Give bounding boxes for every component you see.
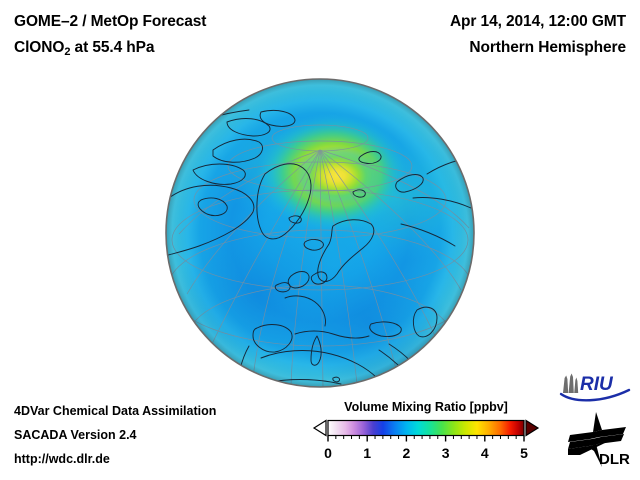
colorbar-ticks xyxy=(328,436,524,442)
region-label: Northern Hemisphere xyxy=(469,39,626,57)
visualization-canvas: GOME–2 / MetOp Forecast ClONO2 at 55.4 h… xyxy=(0,0,640,480)
colorbar-bar xyxy=(328,421,524,436)
colorbar-over-arrow xyxy=(526,421,538,436)
colorbar: Volume Mixing Ratio [ppbv] 012345 xyxy=(312,400,540,465)
colorbar-tick-labels: 012345 xyxy=(312,445,540,465)
globe-limb-shading xyxy=(166,79,474,387)
colorbar-tick-label: 4 xyxy=(481,445,489,461)
page-title-species: ClONO2 at 55.4 hPa xyxy=(14,39,154,57)
riu-logo: RIU xyxy=(558,371,632,405)
colorbar-tick-label: 3 xyxy=(442,445,450,461)
colorbar-tick-label: 1 xyxy=(363,445,371,461)
colorbar-tick-label: 0 xyxy=(324,445,332,461)
colorbar-tick-label: 5 xyxy=(520,445,528,461)
colorbar-under-arrow xyxy=(314,421,326,436)
timestamp-label: Apr 14, 2014, 12:00 GMT xyxy=(450,13,626,31)
species-name: ClONO xyxy=(14,39,64,56)
footer-method-label: 4DVar Chemical Data Assimilation xyxy=(14,404,216,418)
dlr-logo: DLR xyxy=(566,411,632,469)
globe-orthographic-map xyxy=(165,78,475,388)
species-subscript: 2 xyxy=(64,46,70,58)
page-title-instrument: GOME–2 / MetOp Forecast xyxy=(14,13,206,31)
species-level: at 55.4 hPa xyxy=(70,39,154,56)
dlr-wordmark: DLR xyxy=(599,451,630,468)
footer-url-link[interactable]: http://wdc.dlr.de xyxy=(14,452,110,466)
colorbar-tick-label: 2 xyxy=(402,445,410,461)
riu-tower-icon xyxy=(563,374,578,394)
riu-wordmark: RIU xyxy=(580,374,614,395)
footer-version-label: SACADA Version 2.4 xyxy=(14,428,137,442)
colorbar-gradient xyxy=(312,418,540,444)
colorbar-title: Volume Mixing Ratio [ppbv] xyxy=(312,400,540,414)
